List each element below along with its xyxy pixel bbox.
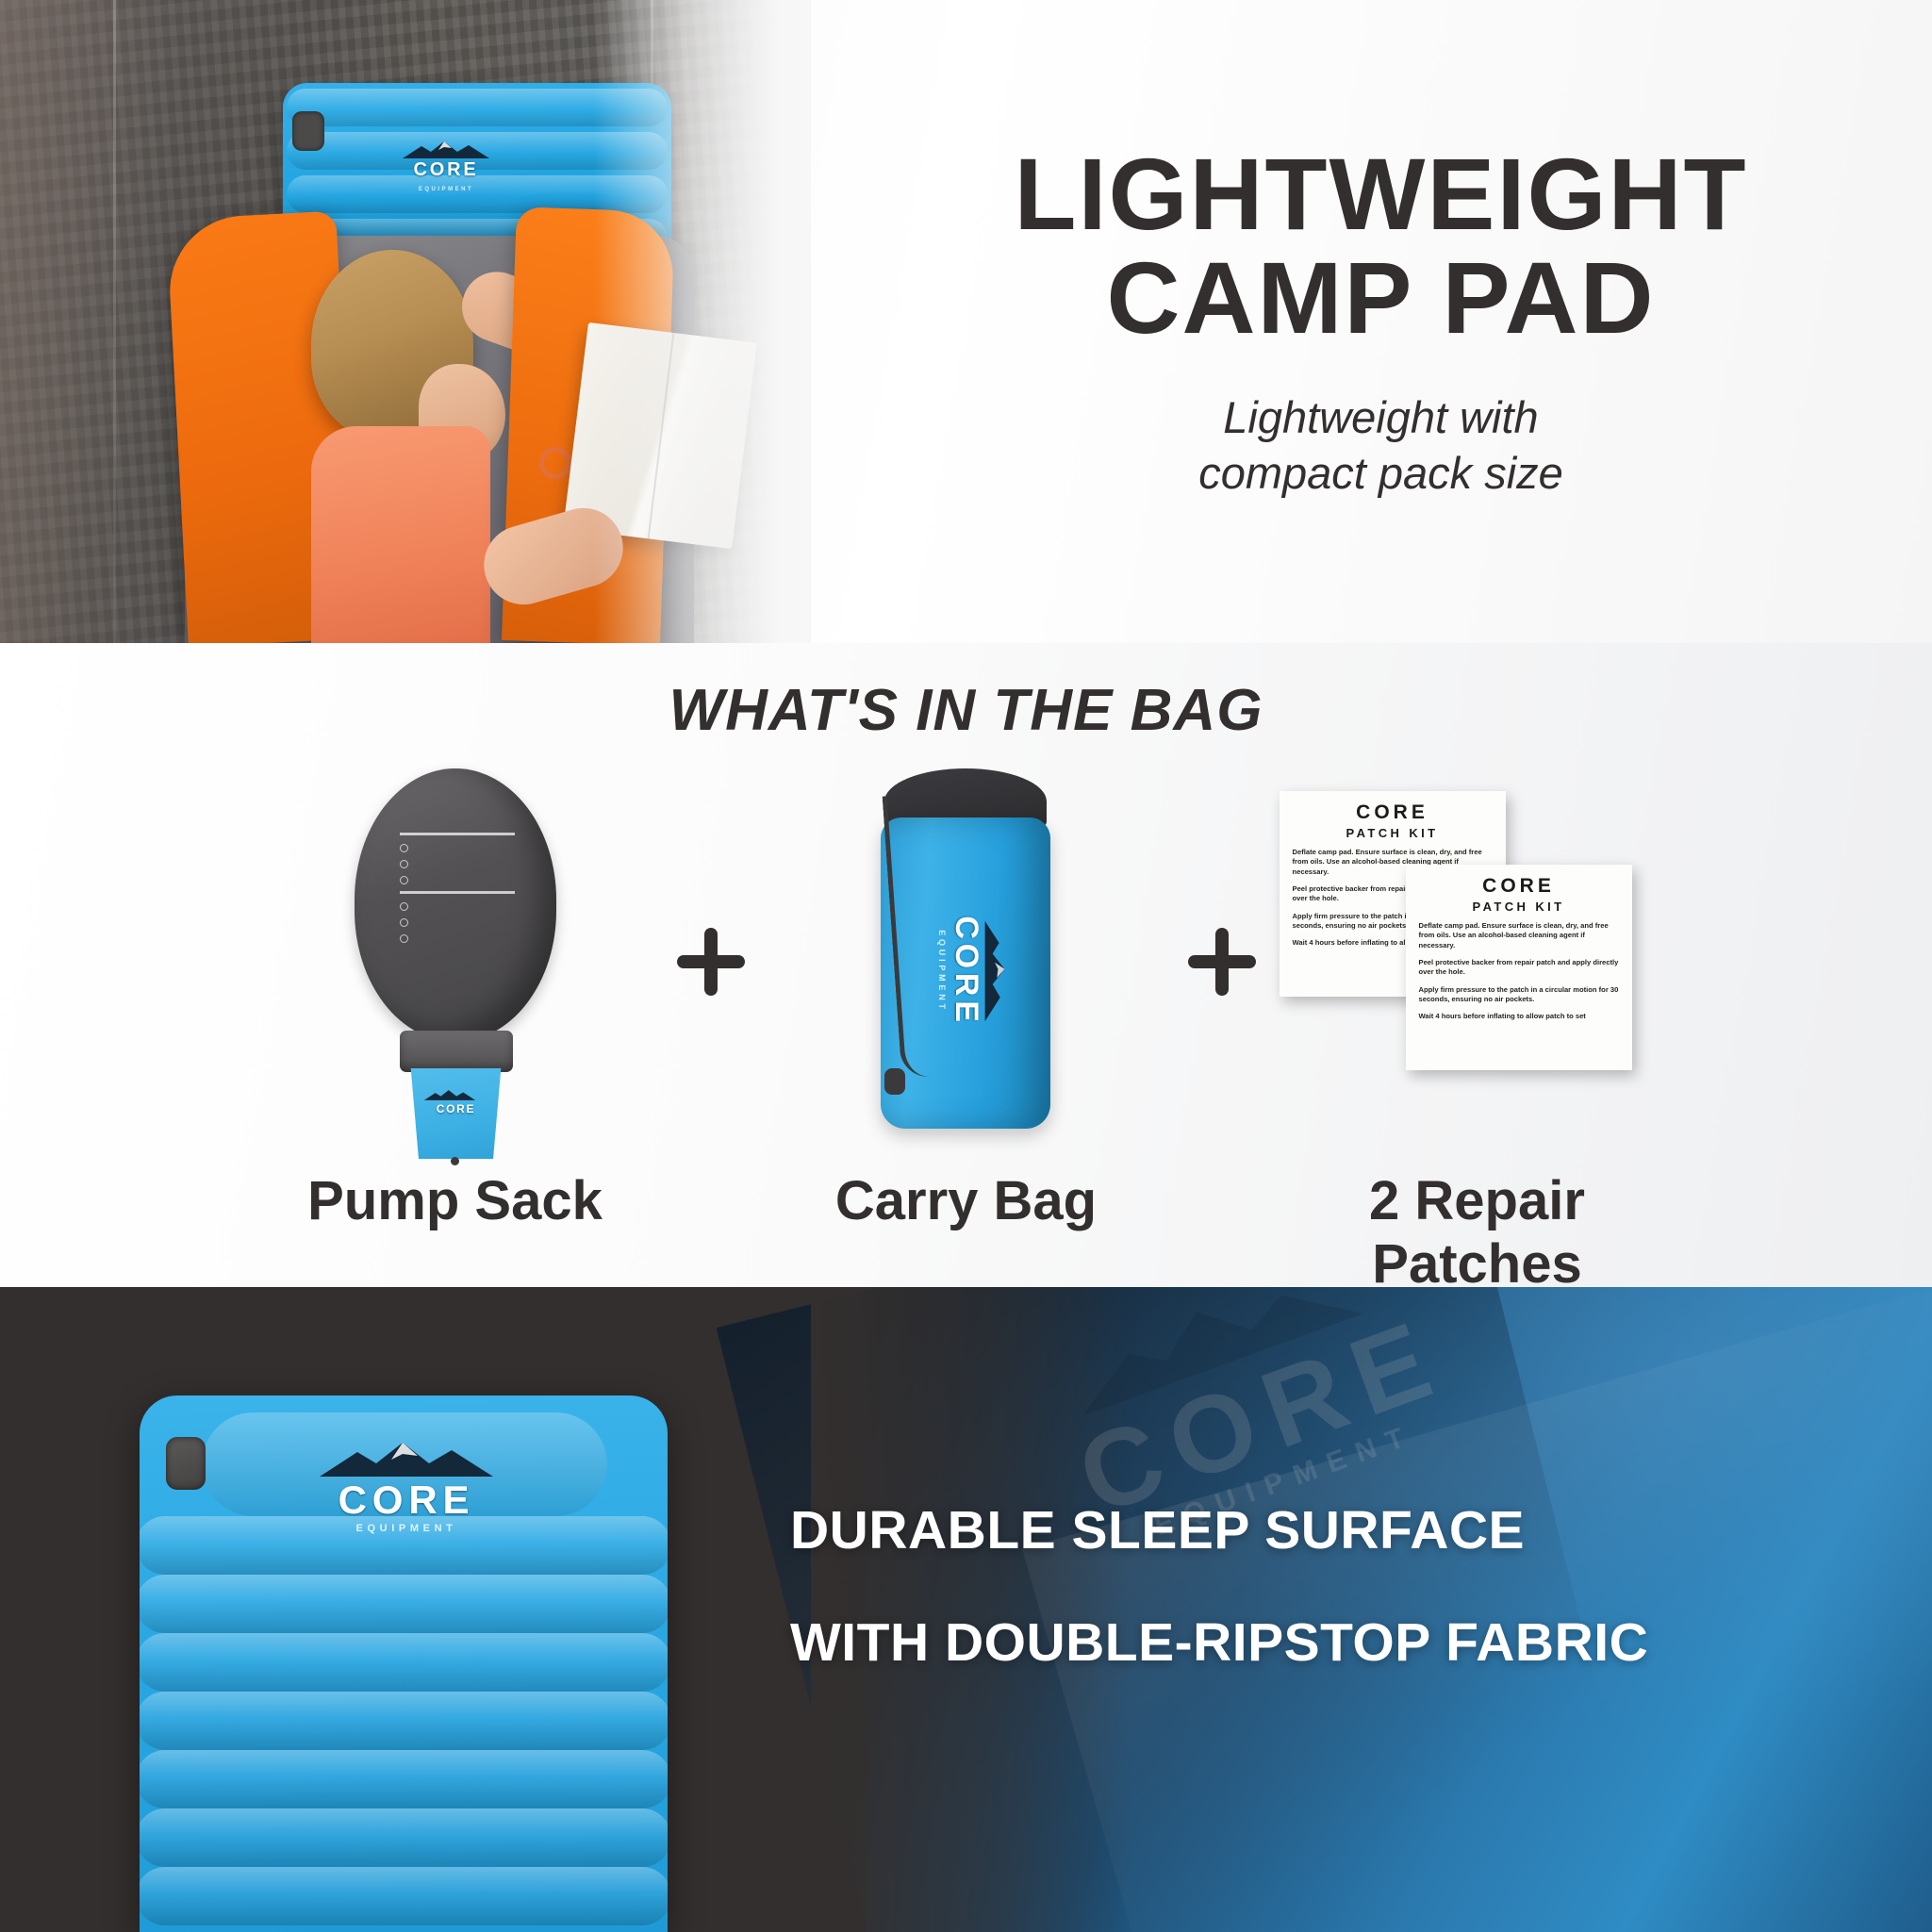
hero-pad-core-logo: CORE EQUIPMENT <box>394 140 498 195</box>
infographic-page: CORE EQUIPMENT LIGHTWEIGHT CAMP PA <box>0 0 1932 1932</box>
brand-tagline: EQUIPMENT <box>356 1523 457 1534</box>
hero-section: CORE EQUIPMENT LIGHTWEIGHT CAMP PA <box>0 0 1932 643</box>
page-title: LIGHTWEIGHT CAMP PAD <box>1015 142 1748 350</box>
patch-instruction: Apply firm pressure to the patch in a ci… <box>1419 985 1619 1005</box>
durable-line-1: DURABLE SLEEP SURFACE <box>790 1504 1846 1558</box>
hero-subtitle: Lightweight with compact pack size <box>1198 389 1563 501</box>
patch-instruction: Deflate camp pad. Ensure surface is clea… <box>1419 921 1619 950</box>
patch-kit-card-2: CORE PATCH KIT Deflate camp pad. Ensure … <box>1406 865 1632 1070</box>
patch-card-kit-label: PATCH KIT <box>1293 826 1493 840</box>
plus-icon <box>1181 920 1263 1003</box>
carry-bag-cord-toggle <box>884 1068 905 1095</box>
brand-tagline: EQUIPMENT <box>937 930 947 1013</box>
item-pump-sack: CORE <box>253 759 658 1164</box>
hero-pad-valve <box>292 111 324 151</box>
mountain-icon <box>397 140 495 160</box>
mountain-icon <box>983 915 1007 1028</box>
carry-bag-illustration: CORE EQUIPMENT <box>867 768 1065 1155</box>
mountain-icon <box>307 1439 505 1480</box>
plus-separator-2 <box>1169 920 1275 1003</box>
hero-text-block: LIGHTWEIGHT CAMP PAD Lightweight with co… <box>830 0 1932 643</box>
pump-sack-blue-sleeve: CORE <box>407 1068 505 1159</box>
item-label-repair-patches: 2 Repair Patches <box>1275 1169 1680 1296</box>
brand-name: CORE <box>339 1478 475 1522</box>
title-line-1: LIGHTWEIGHT <box>1015 142 1748 246</box>
patch-kit-cards: CORE PATCH KIT Deflate camp pad. Ensure … <box>1280 791 1676 1131</box>
brand-name: CORE <box>414 159 479 180</box>
pump-sack-illustration: CORE <box>347 768 564 1164</box>
brand-name: CORE <box>437 1102 475 1115</box>
camp-pad-product-photo: CORE EQUIPMENT <box>140 1395 668 1932</box>
pump-sack-body <box>355 768 556 1042</box>
plus-icon <box>669 920 752 1003</box>
item-repair-patches: CORE PATCH KIT Deflate camp pad. Ensure … <box>1275 759 1680 1164</box>
patch-card-kit-label: PATCH KIT <box>1419 900 1619 914</box>
mountain-icon <box>419 1089 481 1101</box>
items-row: CORE <box>0 754 1932 1169</box>
hero-lifestyle-photo: CORE EQUIPMENT <box>0 0 811 643</box>
item-carry-bag: CORE EQUIPMENT <box>764 759 1169 1164</box>
subtitle-line-2: compact pack size <box>1198 445 1563 501</box>
pump-sack-tip <box>451 1157 459 1165</box>
brand-tagline: EQUIPMENT <box>419 187 473 192</box>
tent-seam-left <box>113 0 116 643</box>
title-line-2: CAMP PAD <box>1015 246 1748 350</box>
subtitle-line-1: Lightweight with <box>1198 389 1563 445</box>
item-label-carry-bag: Carry Bag <box>764 1169 1169 1296</box>
photo-right-fade <box>594 0 811 643</box>
item-labels-row: Pump Sack Carry Bag 2 Repair Patches <box>0 1169 1932 1296</box>
pump-sack-cuff <box>400 1031 513 1072</box>
durable-line-2: WITH DOUBLE-RIPSTOP FABRIC <box>790 1616 1846 1670</box>
item-label-pump-sack: Pump Sack <box>253 1169 658 1296</box>
plus-separator-1 <box>658 920 764 1003</box>
patch-instruction: Peel protective backer from repair patch… <box>1419 958 1619 978</box>
camp-pad-core-logo: CORE EQUIPMENT <box>298 1439 515 1536</box>
durable-surface-text: DURABLE SLEEP SURFACE WITH DOUBLE-RIPSTO… <box>790 1504 1846 1670</box>
pump-sack-printed-instructions <box>400 827 515 949</box>
camp-pad-valve <box>166 1437 206 1490</box>
section-heading: WHAT'S IN THE BAG <box>0 677 1932 744</box>
person-torso <box>311 426 490 643</box>
brand-name: CORE <box>949 916 984 1026</box>
patch-card-brand: CORE <box>1293 802 1493 822</box>
patch-card-brand: CORE <box>1419 876 1619 896</box>
patch-instruction: Wait 4 hours before inflating to allow p… <box>1419 1012 1619 1021</box>
